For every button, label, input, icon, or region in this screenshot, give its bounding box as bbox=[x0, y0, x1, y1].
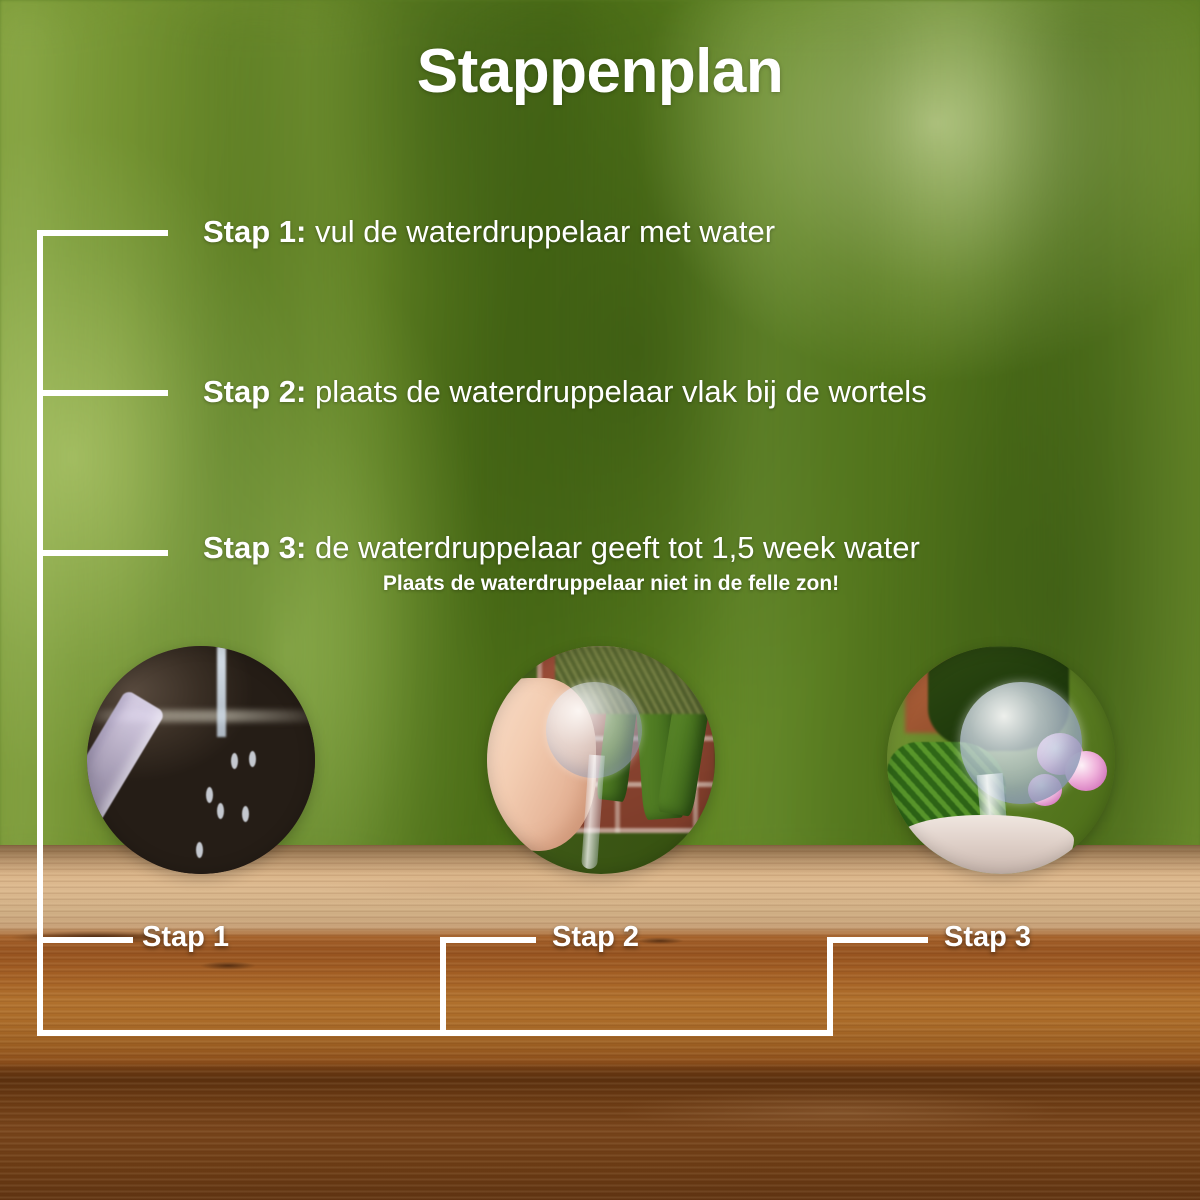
bottom-tick-step-1 bbox=[37, 937, 133, 943]
photo-1-water-stream bbox=[217, 646, 226, 737]
bottom-riser-step-2 bbox=[440, 937, 446, 1036]
wooden-plank-background bbox=[0, 845, 1200, 1200]
bracket-tick-step-1 bbox=[37, 230, 168, 236]
step-3-text: Stap 3: de waterdruppelaar geeft tot 1,5… bbox=[203, 530, 920, 566]
bracket-vertical-spine bbox=[37, 230, 43, 1036]
sun-warning-text: Plaats de waterdruppelaar niet in de fel… bbox=[203, 572, 1019, 596]
bottom-rail-right bbox=[440, 1030, 833, 1036]
step-3-description: de waterdruppelaar geeft tot 1,5 week wa… bbox=[306, 530, 919, 565]
step-1-label: Stap 1: bbox=[203, 214, 306, 249]
step-2-text: Stap 2: plaats de waterdruppelaar vlak b… bbox=[203, 374, 927, 410]
step-3-label: Stap 3: bbox=[203, 530, 306, 565]
photo-1-droplet bbox=[206, 787, 213, 803]
bracket-tick-step-2 bbox=[37, 390, 168, 396]
bottom-riser-step-3 bbox=[827, 937, 833, 1036]
photo-1-droplet bbox=[249, 751, 256, 767]
step-1-photo bbox=[87, 646, 315, 874]
wood-knots-texture bbox=[0, 845, 1200, 1200]
page-title: Stappenplan bbox=[0, 36, 1200, 107]
bottom-rail-left bbox=[37, 1030, 446, 1036]
photo-1-droplet bbox=[231, 753, 238, 769]
bottom-label-step-2: Stap 2 bbox=[552, 921, 639, 954]
step-2-description: plaats de waterdruppelaar vlak bij de wo… bbox=[306, 374, 926, 409]
bottom-tick-step-3 bbox=[827, 937, 928, 943]
bracket-tick-step-3 bbox=[37, 550, 168, 556]
bottom-tick-step-2 bbox=[440, 937, 536, 943]
photo-1-droplet bbox=[242, 806, 249, 822]
step-2-photo bbox=[487, 646, 715, 874]
step-3-photo bbox=[887, 646, 1115, 874]
bottom-label-step-1: Stap 1 bbox=[142, 921, 229, 954]
step-2-label: Stap 2: bbox=[203, 374, 306, 409]
step-1-text: Stap 1: vul de waterdruppelaar met water bbox=[203, 214, 775, 250]
bottom-label-step-3: Stap 3 bbox=[944, 921, 1031, 954]
step-1-description: vul de waterdruppelaar met water bbox=[306, 214, 775, 249]
stappenplan-infographic: Stappenplan Stap 1: vul de waterdruppela… bbox=[0, 0, 1200, 1200]
photo-3-planter bbox=[896, 815, 1074, 874]
